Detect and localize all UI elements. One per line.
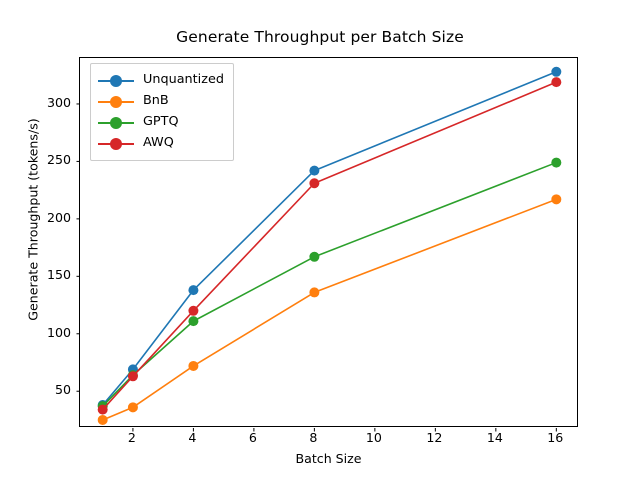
legend-dot-icon bbox=[110, 75, 122, 87]
legend-item-bnb[interactable]: BnB bbox=[98, 91, 224, 112]
data-point-marker bbox=[309, 166, 319, 176]
series-line bbox=[103, 199, 557, 420]
y-tick-label: 100 bbox=[47, 325, 71, 340]
x-tick-label: 8 bbox=[309, 430, 317, 445]
data-point-marker bbox=[98, 405, 108, 415]
data-point-marker bbox=[551, 77, 561, 87]
legend-marker-icon bbox=[98, 116, 134, 130]
x-tick-label: 16 bbox=[547, 430, 563, 445]
data-point-marker bbox=[188, 285, 198, 295]
data-point-marker bbox=[309, 178, 319, 188]
legend-marker-icon bbox=[98, 95, 134, 109]
x-axis-label: Batch Size bbox=[79, 451, 578, 466]
data-point-marker bbox=[551, 67, 561, 77]
legend-dot-icon bbox=[110, 117, 122, 129]
y-tick-label: 150 bbox=[47, 267, 71, 282]
data-point-marker bbox=[128, 402, 138, 412]
legend-label: BnB bbox=[143, 95, 169, 108]
y-tick-label: 300 bbox=[47, 95, 71, 110]
series-bnb bbox=[98, 194, 562, 425]
x-tick-label: 12 bbox=[426, 430, 442, 445]
data-point-marker bbox=[188, 361, 198, 371]
legend-item-awq[interactable]: AWQ bbox=[98, 133, 224, 154]
legend-dot-icon bbox=[110, 96, 122, 108]
data-point-marker bbox=[188, 316, 198, 326]
series-line bbox=[103, 163, 557, 407]
y-tick-label: 250 bbox=[47, 152, 71, 167]
x-tick-label: 10 bbox=[366, 430, 382, 445]
chart-legend: UnquantizedBnBGPTQAWQ bbox=[90, 63, 234, 161]
chart-figure: Generate Throughput per Batch Size Gener… bbox=[0, 0, 640, 480]
data-point-marker bbox=[551, 158, 561, 168]
data-point-marker bbox=[551, 194, 561, 204]
data-point-marker bbox=[98, 415, 108, 425]
series-gptq bbox=[98, 158, 562, 412]
legend-item-unquantized[interactable]: Unquantized bbox=[98, 70, 224, 91]
x-tick-label: 14 bbox=[487, 430, 503, 445]
legend-label: GPTQ bbox=[143, 116, 179, 129]
chart-title: Generate Throughput per Batch Size bbox=[0, 28, 640, 46]
x-tick-label: 2 bbox=[128, 430, 136, 445]
legend-marker-icon bbox=[98, 137, 134, 151]
x-tick-label: 4 bbox=[188, 430, 196, 445]
y-axis-tick-labels: 50100150200250300 bbox=[0, 57, 71, 427]
x-axis-tick-labels: 246810121416 bbox=[79, 430, 578, 450]
legend-marker-icon bbox=[98, 74, 134, 88]
y-tick-label: 200 bbox=[47, 210, 71, 225]
data-point-marker bbox=[309, 252, 319, 262]
legend-label: AWQ bbox=[143, 137, 174, 150]
legend-item-gptq[interactable]: GPTQ bbox=[98, 112, 224, 133]
data-point-marker bbox=[188, 306, 198, 316]
y-tick-label: 50 bbox=[55, 382, 71, 397]
x-tick-label: 6 bbox=[249, 430, 257, 445]
legend-label: Unquantized bbox=[143, 74, 224, 87]
legend-dot-icon bbox=[110, 138, 122, 150]
data-point-marker bbox=[128, 371, 138, 381]
data-point-marker bbox=[309, 287, 319, 297]
